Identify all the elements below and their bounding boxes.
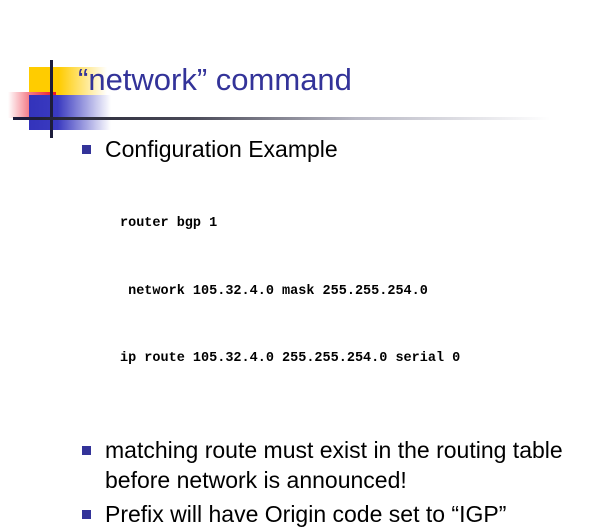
logo-vertical-line: [50, 60, 53, 138]
code-block: router bgp 1 network 105.32.4.0 mask 255…: [120, 168, 592, 416]
bullet-item-matching-route: matching route must exist in the routing…: [82, 435, 592, 495]
bullet-square-icon: [82, 510, 91, 519]
code-line-router-bgp: router bgp 1: [120, 213, 592, 236]
bullet-label: Configuration Example: [105, 134, 592, 164]
bullet-label: matching route must exist in the routing…: [105, 435, 592, 495]
bullet-item-configuration-example: Configuration Example: [82, 134, 592, 164]
logo-blue-square: [29, 95, 111, 130]
slide-body: Configuration Example router bgp 1 netwo…: [82, 134, 592, 529]
code-line-ip-route: ip route 105.32.4.0 255.255.254.0 serial…: [120, 348, 592, 371]
bullet-square-icon: [82, 145, 91, 154]
bullet-label: Prefix will have Origin code set to “IGP…: [105, 499, 592, 529]
bullet-item-origin-code: Prefix will have Origin code set to “IGP…: [82, 499, 592, 529]
title-divider: [40, 117, 550, 120]
slide-title: “network” command: [78, 60, 352, 100]
code-line-network: network 105.32.4.0 mask 255.255.254.0: [120, 281, 592, 304]
bullet-square-icon: [82, 446, 91, 455]
